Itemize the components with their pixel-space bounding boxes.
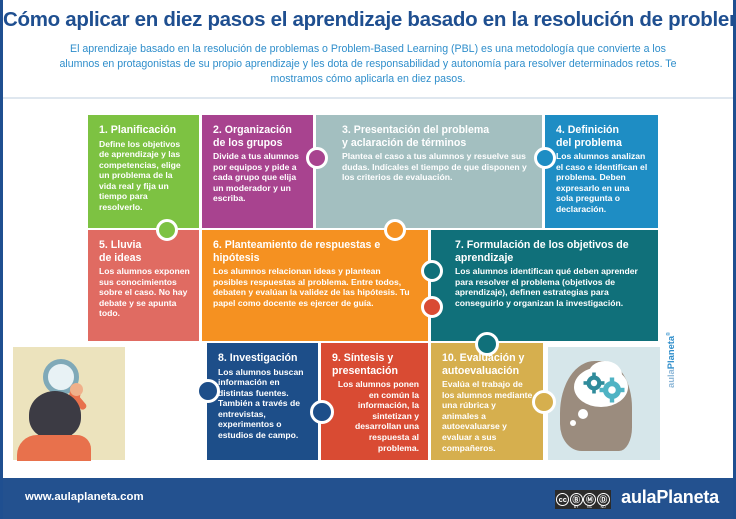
puzzle-piece-step-8[interactable]: 8. Investigación Los alumnos buscan info…	[207, 343, 318, 460]
puzzle-knob-4-3	[534, 147, 556, 169]
cc-mark-nd: Ⓓ ND	[597, 490, 611, 509]
puzzle-knob-3-6	[384, 219, 406, 241]
step-8-heading: 8. Investigación	[218, 352, 309, 365]
puzzle-knob-1-5	[156, 219, 178, 241]
student-head-shape	[29, 391, 81, 439]
cc-label-by: BY	[570, 505, 584, 509]
puzzle-piece-step-3[interactable]: 3. Presentación del problema y aclaració…	[316, 115, 542, 228]
watermark-text-b: Planeta	[665, 336, 676, 369]
puzzle-knob-8-illo-left	[196, 379, 220, 403]
step-5-heading: 5. Lluvia de ideas	[99, 239, 190, 264]
puzzle-piece-step-9[interactable]: 9. Síntesis y presentación Los alumnos p…	[321, 343, 428, 460]
student-hand-shape	[70, 383, 83, 396]
puzzle-knob-7-10	[475, 332, 499, 356]
puzzle-knob-10-illo-right	[532, 390, 556, 414]
puzzle-knob-6-7	[421, 260, 443, 282]
puzzle-piece-step-4[interactable]: 4. Definición del problema Los alumnos a…	[545, 115, 658, 228]
puzzle-knob-9-8	[310, 400, 334, 424]
footer-website-link[interactable]: www.aulaplaneta.com	[25, 491, 144, 503]
student-torso-shape	[17, 435, 91, 461]
step-6-body: Los alumnos relacionan ideas y plantean …	[213, 266, 411, 308]
page-subtitle: El aprendizaje basado en la resolución d…	[53, 42, 683, 87]
step-7-heading: 7. Formulación de los objetivos de apren…	[455, 239, 649, 264]
watermark-text-a: aula	[665, 369, 676, 388]
footer: www.aulaplaneta.com cc Ⓑ BY Ⓜ NC Ⓓ ND au…	[3, 478, 733, 519]
step-5-body: Los alumnos exponen sus conocimientos so…	[99, 266, 190, 319]
step-3-body: Plantea el caso a tus alumnos y resuelve…	[342, 151, 532, 183]
puzzle-piece-step-10[interactable]: 10. Evaluación y autoevaluación Evalúa e…	[431, 343, 543, 460]
puzzle-knob-6-9	[421, 296, 443, 318]
cc-icon: cc	[556, 493, 569, 506]
cc-label-nd: ND	[597, 505, 611, 509]
header-divider	[3, 97, 733, 99]
cc-label-nc: NC	[583, 505, 597, 509]
puzzle-piece-step-2[interactable]: 2. Organización de los grupos Divide a t…	[202, 115, 313, 228]
step-6-heading: 6. Planteamiento de respuestas e hipótes…	[213, 239, 419, 264]
cc-mark-by: Ⓑ BY	[570, 490, 584, 509]
header: Cómo aplicar en diez pasos el aprendizaj…	[3, 0, 733, 100]
puzzle-piece-step-7[interactable]: 7. Formulación de los objetivos de apren…	[431, 230, 658, 341]
cc-mark-nc: Ⓜ NC	[583, 490, 597, 509]
illustration-head-with-gears	[548, 347, 660, 460]
step-10-body: Evalúa el trabajo de los alumnos mediant…	[442, 379, 534, 453]
puzzle-piece-step-6[interactable]: 6. Planteamiento de respuestas e hipótes…	[202, 230, 428, 341]
step-2-body: Divide a tus alumnos por equipos y pide …	[213, 151, 304, 204]
gears-icon	[581, 371, 627, 403]
cc-mark-cc: cc	[556, 490, 570, 509]
step-9-body: Los alumnos ponen en común la informació…	[332, 379, 419, 453]
thought-bubble-dot-small	[570, 420, 576, 426]
puzzle-piece-step-5[interactable]: 5. Lluvia de ideas Los alumnos exponen s…	[88, 230, 199, 341]
thought-bubble-dot-large	[578, 409, 588, 419]
page-title: Cómo aplicar en diez pasos el aprendizaj…	[3, 8, 733, 32]
step-9-heading: 9. Síntesis y presentación	[332, 352, 419, 377]
puzzle-knob-2-3	[306, 147, 328, 169]
step-1-body: Define los objetivos de aprendizaje y la…	[99, 139, 190, 213]
step-4-heading: 4. Definición del problema	[556, 124, 649, 149]
step-7-body: Los alumnos identifican qué deben aprend…	[455, 266, 653, 308]
footer-brand-logo: aulaPlaneta	[621, 487, 719, 508]
step-8-body: Los alumnos buscan información en distin…	[218, 367, 309, 441]
vertical-watermark: aulaPlaneta®	[665, 332, 676, 388]
creative-commons-license-badge[interactable]: cc Ⓑ BY Ⓜ NC Ⓓ ND	[555, 490, 611, 509]
step-3-heading: 3. Presentación del problema y aclaració…	[342, 124, 533, 149]
step-1-heading: 1. Planificación	[99, 124, 190, 137]
illustration-magnifying-glass	[13, 347, 125, 460]
infographic-page: Cómo aplicar en diez pasos el aprendizaj…	[0, 0, 736, 519]
watermark-registered-mark: ®	[666, 332, 672, 336]
step-2-heading: 2. Organización de los grupos	[213, 124, 304, 149]
step-4-body: Los alumnos analizan el caso e identific…	[556, 151, 649, 215]
puzzle-piece-step-1[interactable]: 1. Planificación Define los objetivos de…	[88, 115, 199, 228]
puzzle-board: 1. Planificación Define los objetivos de…	[3, 100, 733, 472]
